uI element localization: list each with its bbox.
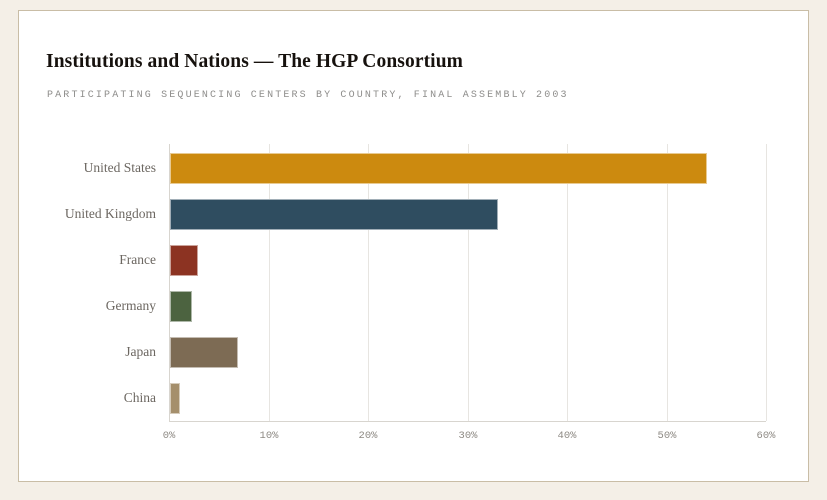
y-axis-label-united-kingdom: United Kingdom bbox=[0, 206, 156, 222]
y-axis-labels: United StatesUnited KingdomFranceGermany… bbox=[0, 144, 156, 421]
y-axis-label-united-states: United States bbox=[0, 160, 156, 176]
y-axis-label-japan: Japan bbox=[0, 344, 156, 360]
x-tick-50pct: 50% bbox=[658, 430, 677, 442]
y-axis-label-france: France bbox=[0, 252, 156, 268]
bar-germany[interactable] bbox=[170, 291, 192, 322]
bar-united-kingdom[interactable] bbox=[170, 199, 498, 230]
bar-united-states[interactable] bbox=[170, 153, 707, 184]
chart-card: Institutions and Nations — The HGP Conso… bbox=[18, 10, 809, 482]
y-axis-label-germany: Germany bbox=[0, 298, 156, 314]
bar-france[interactable] bbox=[170, 245, 198, 276]
bar-series bbox=[169, 144, 766, 421]
x-tick-60pct: 60% bbox=[757, 430, 776, 442]
x-tick-30pct: 30% bbox=[459, 430, 478, 442]
chart-subtitle: PARTICIPATING SEQUENCING CENTERS BY COUN… bbox=[47, 90, 569, 101]
x-tick-0pct: 0% bbox=[163, 430, 176, 442]
bar-japan[interactable] bbox=[170, 337, 238, 368]
x-axis-line bbox=[169, 421, 766, 422]
page-title: Institutions and Nations — The HGP Conso… bbox=[46, 51, 463, 73]
x-tick-20pct: 20% bbox=[359, 430, 378, 442]
x-tick-40pct: 40% bbox=[558, 430, 577, 442]
plot-area: United StatesUnited KingdomFranceGermany… bbox=[169, 144, 766, 421]
bar-china[interactable] bbox=[170, 383, 180, 414]
x-tick-10pct: 10% bbox=[260, 430, 279, 442]
gridline bbox=[766, 144, 767, 421]
y-axis-label-china: China bbox=[0, 390, 156, 406]
